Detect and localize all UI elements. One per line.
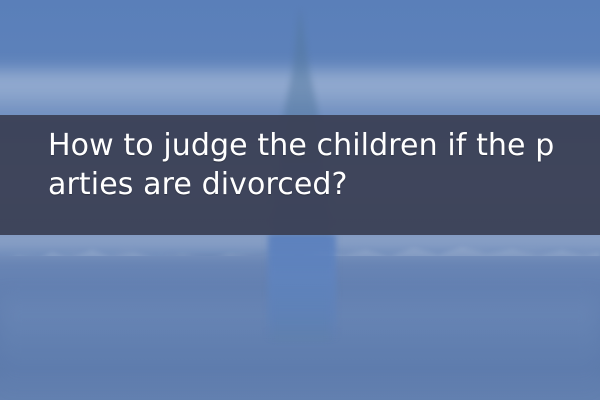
caption-title: How to judge the children if the parties… [48,126,568,204]
image-canvas: How to judge the children if the parties… [0,0,600,400]
tower-base [268,234,336,340]
